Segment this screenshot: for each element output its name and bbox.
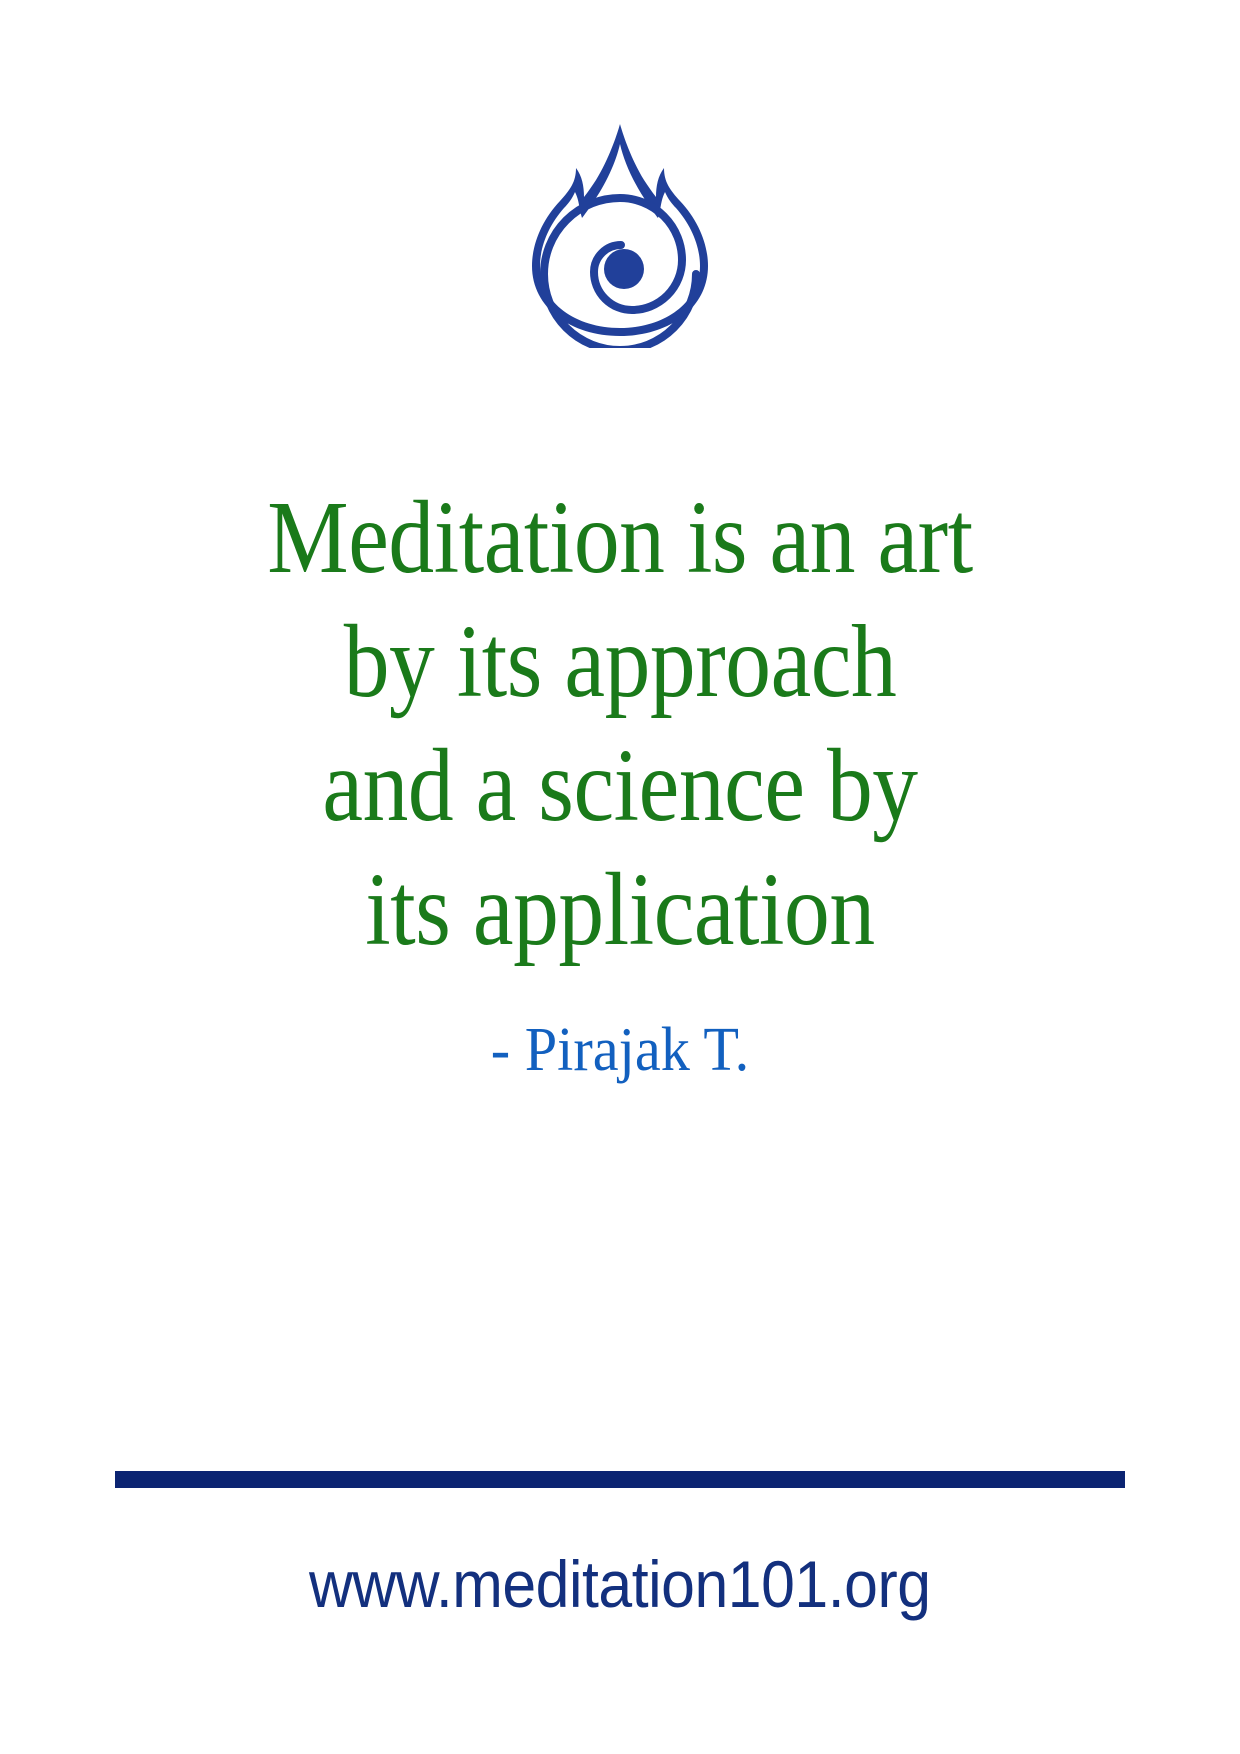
quote-line-1: Meditation is an art (136, 476, 1104, 600)
flame-droplet-spiral-icon (500, 108, 740, 348)
footer-divider (115, 1471, 1125, 1488)
quote-line-4: its application (136, 848, 1104, 972)
brand-logo (500, 108, 740, 348)
quote-text: Meditation is an art by its approach and… (70, 476, 1170, 972)
quote-attribution: - Pirajak T. (103, 1014, 1137, 1086)
quote-line-3: and a science by (136, 724, 1104, 848)
quote-line-2: by its approach (136, 600, 1104, 724)
card-footer: www.meditation101.org (0, 1471, 1240, 1754)
website-url[interactable]: www.meditation101.org (309, 1546, 931, 1622)
quote-card: Meditation is an art by its approach and… (0, 0, 1240, 1754)
